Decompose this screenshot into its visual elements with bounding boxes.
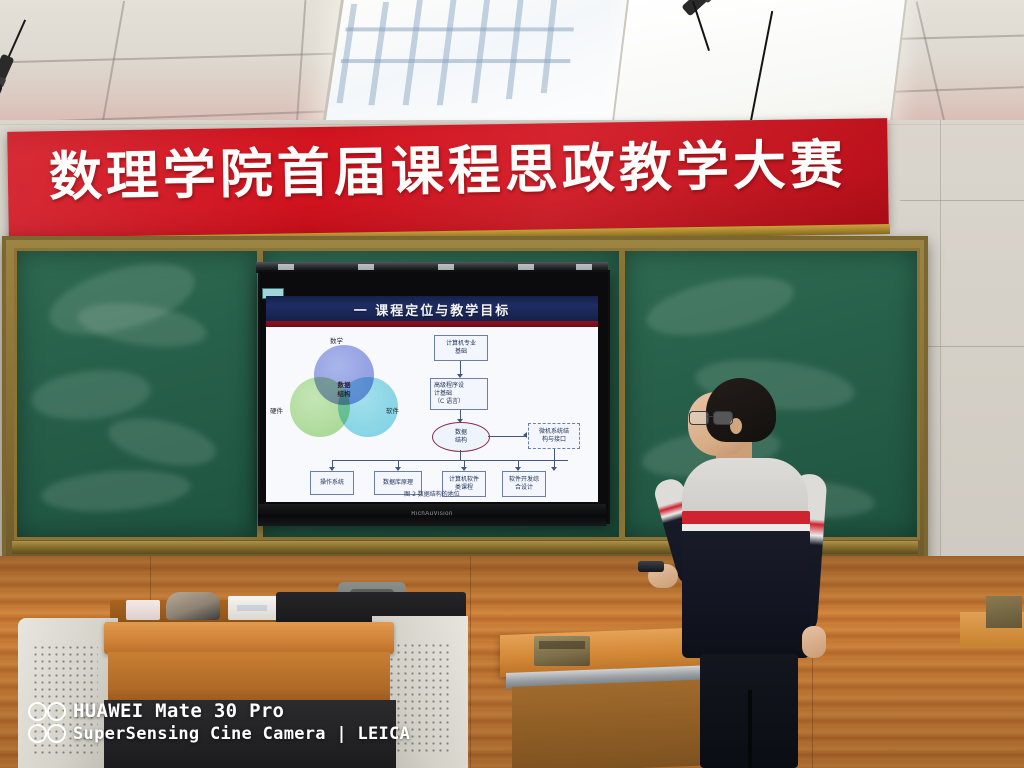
ceiling-light-panel-secondary xyxy=(609,0,908,128)
desk-equipment-box xyxy=(534,636,590,666)
flow-leaf-1-l1: 数据库原理 xyxy=(383,479,413,487)
venn-label-math: 数学 xyxy=(330,335,343,345)
flow-connector-bus xyxy=(332,460,568,461)
far-right-small-box xyxy=(986,596,1022,628)
slide-body: 数学 硬件 软件 数据 结构 计算机专业 基础 高级程序设 xyxy=(266,327,598,502)
presenter-sweater-red-stripe xyxy=(682,511,810,524)
presenter-leg-gap xyxy=(748,690,752,768)
venn-center-line1: 数据 xyxy=(326,381,362,390)
flow-node-c-programming-l2: 计基础 xyxy=(434,390,464,398)
presenter-glasses xyxy=(689,411,733,423)
watermark-line-1: HUAWEI Mate 30 Pro xyxy=(73,700,410,724)
banner-title: 数理学院首届课程思政教学大赛 xyxy=(8,138,889,205)
flow-connector-bus-drop xyxy=(460,450,461,460)
ceiling xyxy=(0,0,1024,128)
venn-label-software: 软件 xyxy=(386,405,399,415)
flow-node-microcomputer-l1: 微机系统结 xyxy=(539,428,569,436)
event-banner: 数理学院首届课程思政教学大赛 xyxy=(7,118,889,242)
presenter-clicker xyxy=(638,561,664,572)
flow-node-cs-foundation-l2: 基础 xyxy=(446,348,476,356)
display-brand-label: RichAuVision xyxy=(258,511,606,517)
flow-arrow-side xyxy=(523,432,527,438)
podium-wood-top xyxy=(104,622,394,654)
presentation-slide: 一 课程定位与教学目标 数学 硬件 软件 数据 结构 计算机专业 xyxy=(266,296,598,502)
presenter xyxy=(660,378,840,768)
flow-node-microcomputer-l2: 构与接口 xyxy=(539,436,569,444)
camera-watermark: HUAWEI Mate 30 Pro SuperSensing Cine Cam… xyxy=(28,700,410,745)
flow-node-c-programming-l1: 高级程序设 xyxy=(434,382,464,390)
slide-title-text: 一 课程定位与教学目标 xyxy=(266,300,598,319)
slide-title-bar: 一 课程定位与教学目标 xyxy=(266,296,598,321)
presenter-right-hand xyxy=(802,626,826,658)
podium-wood-face xyxy=(108,652,390,704)
flow-node-cs-foundation-l1: 计算机专业 xyxy=(446,340,476,348)
podium-small-box xyxy=(126,600,160,620)
slide-figure-caption: 图 2 数据结构的地位 xyxy=(266,489,598,498)
flow-node-data-structure: 数据 结构 xyxy=(432,422,490,452)
venn-label-hardware: 硬件 xyxy=(270,405,283,415)
flow-connector-side xyxy=(488,436,526,437)
huawei-camera-icon xyxy=(28,702,63,743)
blackboard-panel-left xyxy=(14,248,260,540)
flow-leaf-0-l1: 操作系统 xyxy=(320,479,344,487)
ceiling-light-panel xyxy=(318,0,643,128)
flow-node-cs-foundation: 计算机专业 基础 xyxy=(434,335,488,361)
flow-node-c-programming-l3: （C 语言） xyxy=(434,398,464,406)
presenter-sweater-top xyxy=(682,458,808,516)
podium-cap xyxy=(166,592,220,620)
podium-left-panel xyxy=(18,618,118,768)
venn-label-center: 数据 结构 xyxy=(326,381,362,400)
flow-node-data-structure-l1: 数据 xyxy=(455,429,467,437)
classroom-photo-scene: 数理学院首届课程思政教学大赛 一 课程定位与 xyxy=(0,0,1024,768)
venn-center-line2: 结构 xyxy=(326,390,362,399)
venn-diagram: 数学 硬件 软件 数据 结构 xyxy=(284,343,402,447)
flow-node-data-structure-l2: 结构 xyxy=(455,437,467,445)
display-bottom-bezel: RichAuVision xyxy=(258,504,606,526)
presenter-sweater-white-stripe xyxy=(682,524,810,531)
flow-leaf-3-l1: 软件开发综 xyxy=(509,476,539,484)
watermark-line-2: SuperSensing Cine Camera | LEICA xyxy=(73,724,410,745)
presenter-sweater-bottom xyxy=(682,530,810,658)
flow-node-c-programming: 高级程序设 计基础 （C 语言） xyxy=(430,378,488,410)
flow-node-microcomputer: 微机系统结 构与接口 xyxy=(528,423,580,449)
flow-leaf-2-l1: 计算机软件 xyxy=(449,476,479,484)
watermark-text: HUAWEI Mate 30 Pro SuperSensing Cine Cam… xyxy=(73,700,410,745)
podium-tissue-box xyxy=(228,596,280,620)
flow-arrow-leaf-5 xyxy=(551,467,557,471)
presenter-hair xyxy=(706,378,776,442)
